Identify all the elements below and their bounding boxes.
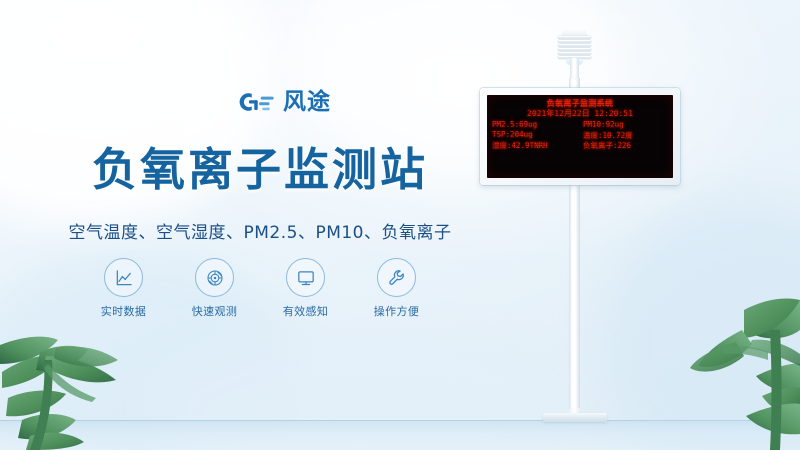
feature-label: 操作方便 [374,303,420,319]
background-wash [600,200,800,450]
feature-list: 实时数据 快速观测 [0,258,520,319]
promo-banner: 风途 负氧离子监测站 空气温度、空气湿度、PM2.5、PM10、负氧离子 实时数… [0,0,800,450]
display-reading-row: PM2.5:69ug PM10:92ug [487,120,673,129]
reading-pm10: PM10:92ug [580,120,673,129]
brand-name: 风途 [283,91,331,114]
feature-item[interactable]: 实时数据 [95,258,153,319]
display-datetime: 2021年12月22日 12:20:51 [487,108,673,119]
reading-negative-ion: 负氧离子:226 [580,140,673,151]
feature-item[interactable]: 快速观测 [186,258,244,319]
radiation-shield-sensor [556,28,593,64]
ground-surface [0,420,800,450]
sensor-base [566,59,583,65]
support-pole [569,78,580,421]
display-title: 负氧离子监测系统 [487,98,673,109]
feature-icon-frame [286,258,325,297]
base-collar [566,408,584,416]
feature-item[interactable]: 操作方便 [368,258,426,319]
gf-logo-icon [236,88,276,116]
page-title: 负氧离子监测站 [0,133,520,198]
feature-icon-frame [104,258,143,297]
feature-label: 实时数据 [101,303,147,319]
feature-icon-frame [195,258,234,297]
ground-edge-line [0,420,800,421]
wrench-icon [387,268,407,288]
sensor-plates [558,36,591,60]
radar-observation-icon [205,268,225,288]
brand-lockup: 风途 [236,88,331,116]
sensor-cap [562,28,587,37]
feature-icon-frame [377,258,416,297]
feature-label: 快速观测 [192,303,238,319]
reading-temperature: 温度:10.72度 [580,130,673,141]
reading-pm25: PM2.5:69ug [487,120,580,129]
feature-label: 有效感知 [283,303,329,319]
subtitle: 空气温度、空气湿度、PM2.5、PM10、负氧离子 [0,218,520,243]
monitor-icon [296,268,316,288]
feature-item[interactable]: 有效感知 [277,258,335,319]
line-chart-icon [114,268,134,288]
pole-upper-segment [570,58,579,84]
